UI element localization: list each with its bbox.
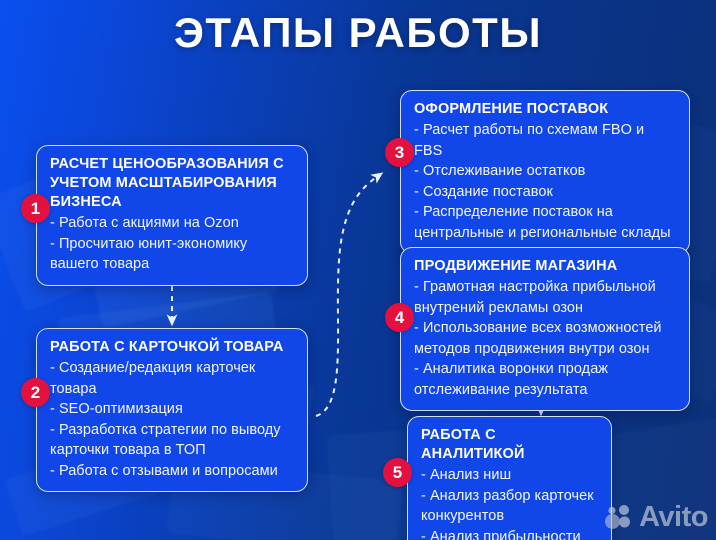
step-line: - Создание поставок (414, 182, 676, 203)
step-title: РАБОТА С АНАЛИТИКОЙ (421, 426, 598, 464)
step-line: - Работа с акциями на Ozon (50, 213, 294, 234)
step-card-5[interactable]: РАБОТА С АНАЛИТИКОЙ - Анализ ниш - Анали… (407, 416, 612, 540)
step-badge-4: 4 (385, 303, 414, 332)
poster-canvas: ЭТАПЫ РАБОТЫ РАСЧЕТ ЦЕНООБРАЗОВАНИЯ С УЧ… (0, 0, 716, 540)
step-line: - Использование всех возможностей методо… (414, 318, 676, 359)
step-title: ПРОДВИЖЕНИЕ МАГАЗИНА (414, 257, 676, 276)
step-line: - Просчитаю юнит-экономику вашего товара (50, 234, 294, 275)
step-badge-2: 2 (21, 378, 50, 407)
avito-watermark: Avito (604, 502, 708, 532)
step-line: - Анализ прибыльности (421, 527, 598, 540)
step-line: - Распределение поставок на центральные … (414, 202, 676, 243)
step-line: - Грамотная настройка прибыльной внутрен… (414, 277, 676, 318)
step-line: - SEO-оптимизация (50, 399, 294, 420)
step-card-4[interactable]: ПРОДВИЖЕНИЕ МАГАЗИНА - Грамотная настрой… (400, 247, 690, 411)
step-line: - Создание/редакция карточек товара (50, 358, 294, 399)
avito-wordmark: Avito (639, 502, 708, 532)
step-line: - Расчет работы по схемам FBO и FBS (414, 120, 676, 161)
page-title: ЭТАПЫ РАБОТЫ (0, 8, 716, 58)
step-badge-1: 1 (21, 194, 50, 223)
step-title: ОФОРМЛЕНИЕ ПОСТАВОК (414, 100, 676, 119)
step-line: - Анализ ниш (421, 465, 598, 486)
step-line: - Разработка стратегии по выводу карточк… (50, 420, 294, 461)
step-title: РАБОТА С КАРТОЧКОЙ ТОВАРА (50, 338, 294, 357)
connector-2-to-3 (316, 176, 378, 416)
step-card-2[interactable]: РАБОТА С КАРТОЧКОЙ ТОВАРА - Создание/ред… (36, 328, 308, 492)
step-badge-3: 3 (385, 138, 414, 167)
step-card-3[interactable]: ОФОРМЛЕНИЕ ПОСТАВОК - Расчет работы по с… (400, 90, 690, 254)
step-line: - Анализ разбор карточек конкурентов (421, 486, 598, 527)
step-card-1[interactable]: РАСЧЕТ ЦЕНООБРАЗОВАНИЯ С УЧЕТОМ МАСШТАБИ… (36, 145, 308, 286)
step-line: - Аналитика воронки продаж отслеживание … (414, 359, 676, 400)
step-badge-5: 5 (383, 458, 412, 487)
step-line: - Отслеживание остатков (414, 161, 676, 182)
step-line: - Работа с отзывами и вопросами (50, 461, 294, 482)
step-title: РАСЧЕТ ЦЕНООБРАЗОВАНИЯ С УЧЕТОМ МАСШТАБИ… (50, 155, 294, 212)
avito-logo-icon (604, 502, 634, 532)
